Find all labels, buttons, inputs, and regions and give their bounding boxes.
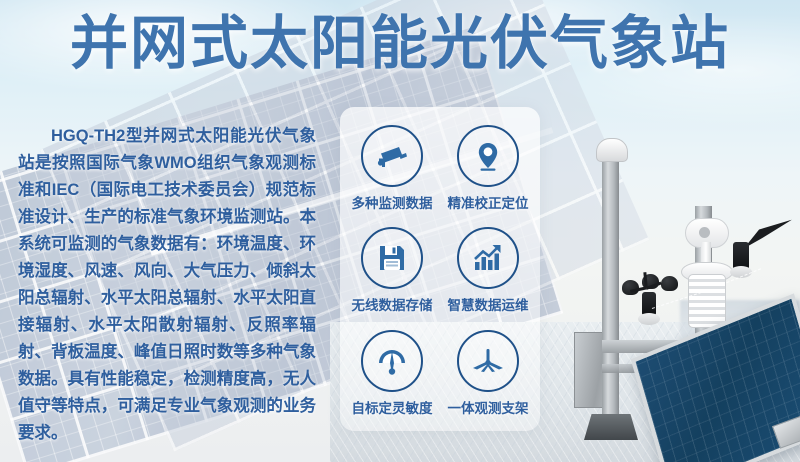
- base-flange-left: [584, 414, 638, 440]
- pyranometer-sensor: [596, 138, 628, 162]
- location-pin-icon: [457, 125, 519, 187]
- poster-root: 并网式太阳能光伏气象站 HGQ-TH2型并网式太阳能光伏气象站是按照国际气象WM…: [0, 0, 800, 462]
- product-photo: [540, 96, 800, 462]
- floppy-disk-icon: [361, 227, 423, 289]
- feature-label: 自标定灵敏度: [352, 397, 433, 417]
- radiation-shield: [688, 274, 726, 328]
- feature-item-wireless-storage[interactable]: 无线数据存储: [344, 220, 440, 323]
- feature-label: 智慧数据运维: [448, 294, 529, 314]
- feature-item-multi-monitoring[interactable]: 多种监测数据: [344, 117, 440, 220]
- feature-item-self-calibration[interactable]: 自标定灵敏度: [344, 322, 440, 425]
- page-title: 并网式太阳能光伏气象站: [0, 8, 800, 80]
- security-camera-icon: [361, 125, 423, 187]
- anemometer-sensor: [622, 274, 678, 320]
- feature-item-precise-positioning[interactable]: 精准校正定位: [440, 117, 536, 220]
- feature-item-smart-ops[interactable]: 智慧数据运维: [440, 220, 536, 323]
- tripod-mount-icon: [457, 330, 519, 392]
- mast-left: [602, 156, 619, 418]
- feature-label: 一体观测支架: [448, 397, 529, 417]
- feature-label: 多种监测数据: [352, 192, 433, 212]
- feature-label: 无线数据存储: [352, 294, 433, 314]
- gauge-meter-icon: [361, 330, 423, 392]
- feature-grid: 多种监测数据 精准校正定位: [340, 107, 540, 431]
- product-description: HGQ-TH2型并网式太阳能光伏气象站是按照国际气象WMO组织气象观测标准和IE…: [18, 123, 316, 447]
- growth-chart-icon: [457, 227, 519, 289]
- feature-card: 多种监测数据 精准校正定位: [340, 107, 540, 431]
- wind-vane-fin: [744, 216, 792, 251]
- feature-item-integrated-bracket[interactable]: 一体观测支架: [440, 322, 536, 425]
- feature-label: 精准校正定位: [448, 192, 529, 212]
